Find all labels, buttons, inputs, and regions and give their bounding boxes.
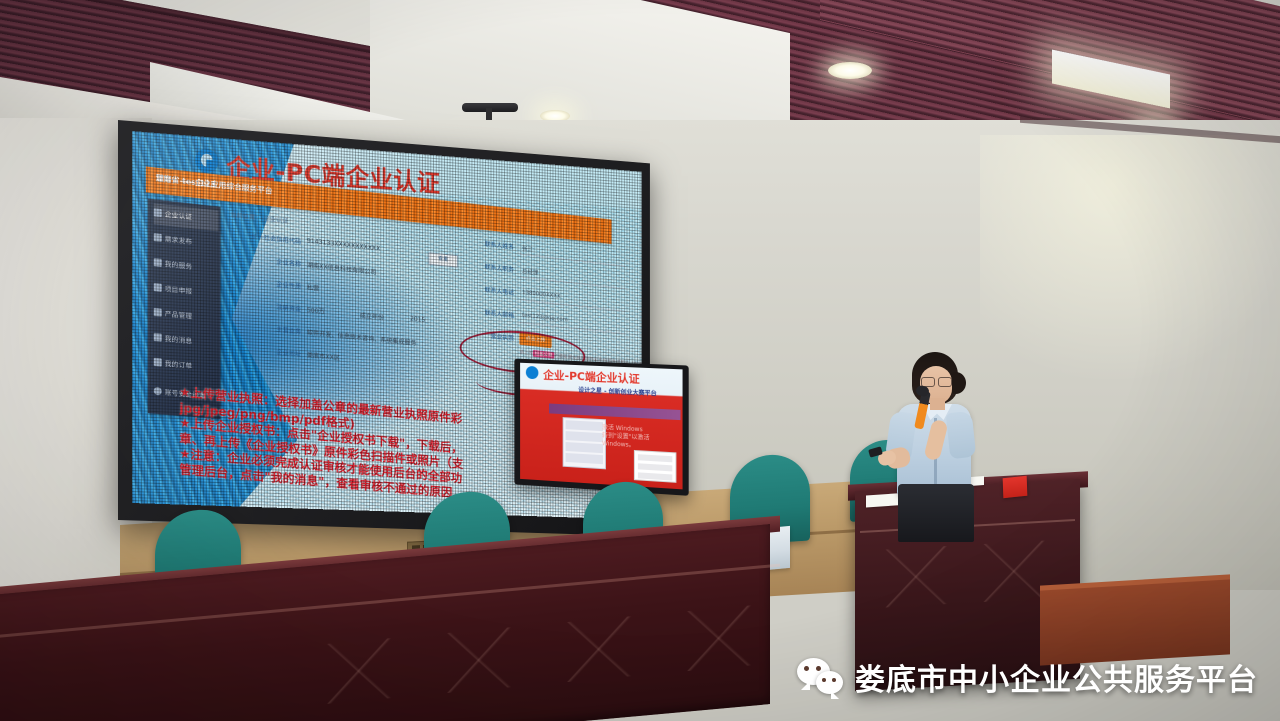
box-icon bbox=[154, 308, 162, 317]
popup-line bbox=[638, 454, 672, 462]
sidebar-item-3[interactable]: 项目申报 bbox=[154, 278, 219, 305]
glasses-icon bbox=[921, 377, 951, 385]
secondary-header-text: 设计之星 - 创新创业大赛平台 bbox=[578, 385, 656, 398]
field-value: 私营 bbox=[307, 282, 319, 293]
sidebar-item-0[interactable]: 企业认证 bbox=[154, 203, 219, 231]
circular-clock-logo-icon bbox=[526, 366, 539, 379]
presenter-right-sleeve bbox=[946, 411, 977, 459]
conference-room-photo: 企业-PC端企业认证 湖南省——企业应用综合服务平台 您好， test123 企… bbox=[0, 0, 1280, 721]
grid-icon bbox=[154, 208, 162, 217]
ceiling-light bbox=[828, 62, 872, 79]
stage-step bbox=[1040, 579, 1230, 665]
channel-watermark: 娄底市中小企业公共服务平台 bbox=[797, 655, 1258, 699]
sidebar-item-5[interactable]: 我的消息 bbox=[154, 328, 219, 355]
sidebar-item-label: 产品管理 bbox=[165, 310, 192, 321]
secondary-popup-dialog[interactable] bbox=[634, 450, 677, 483]
sidebar-item-4[interactable]: 产品管理 bbox=[154, 303, 219, 330]
menu-item[interactable] bbox=[566, 442, 603, 453]
watermark-text: 娄底市中小企业公共服务平台 bbox=[855, 655, 1258, 699]
wechat-icon bbox=[797, 658, 843, 696]
gear-icon bbox=[154, 387, 162, 396]
field-value-extra: 2015 bbox=[410, 315, 425, 324]
secondary-monitor-display[interactable]: 企业-PC端企业认证 设计之星 - 创新创业大赛平台 激活 Windows 转到… bbox=[520, 363, 682, 490]
sidebar-item-label: 需求发布 bbox=[165, 235, 192, 246]
field-label-extra: 成立年份 bbox=[360, 310, 384, 322]
duplicate-check-button[interactable]: 查重 bbox=[428, 252, 457, 268]
popup-line bbox=[638, 463, 672, 471]
sidebar-item-label: 我的消息 bbox=[165, 335, 192, 346]
podium-zigzag-inlay bbox=[868, 540, 1063, 609]
cart-icon bbox=[154, 358, 162, 367]
sidebar-item-6[interactable]: 我的订单 bbox=[154, 353, 219, 380]
sidebar-item-label: 企业认证 bbox=[165, 210, 192, 221]
flag-icon bbox=[154, 233, 162, 242]
sidebar-item-1[interactable]: 需求发布 bbox=[154, 228, 219, 256]
presenter-neck bbox=[930, 398, 945, 410]
menu-item[interactable] bbox=[566, 453, 603, 464]
field-value: 500万 bbox=[307, 304, 325, 316]
popup-line bbox=[638, 472, 672, 480]
sidebar-item-label: 我的订单 bbox=[165, 360, 192, 371]
secondary-dropdown-menu[interactable] bbox=[563, 417, 606, 469]
list-icon bbox=[154, 283, 162, 292]
sidebar-item-2[interactable]: 我的服务 bbox=[154, 253, 219, 281]
doc-icon bbox=[154, 258, 162, 267]
sidebar-item-label: 我的服务 bbox=[165, 260, 192, 271]
field-value: 娄底市XX区 bbox=[307, 349, 340, 362]
windows-activation-watermark: 激活 Windows 转到"设置"以激活 Windows。 bbox=[602, 424, 650, 451]
red-name-card bbox=[1003, 476, 1028, 498]
wall-light-glow bbox=[980, 135, 1280, 385]
secondary-slide-title: 企业-PC端企业认证 bbox=[543, 367, 639, 387]
sidebar-item-label: 项目申报 bbox=[165, 285, 192, 296]
mail-icon bbox=[154, 333, 162, 342]
menu-item[interactable] bbox=[566, 431, 603, 442]
form-column-left: 统一社会信用代码 9143133XXXXXXXXXXX 查重 企业名称 湖南XX… bbox=[248, 230, 464, 386]
menu-item[interactable] bbox=[566, 420, 603, 431]
presenter-skirt bbox=[898, 484, 974, 542]
